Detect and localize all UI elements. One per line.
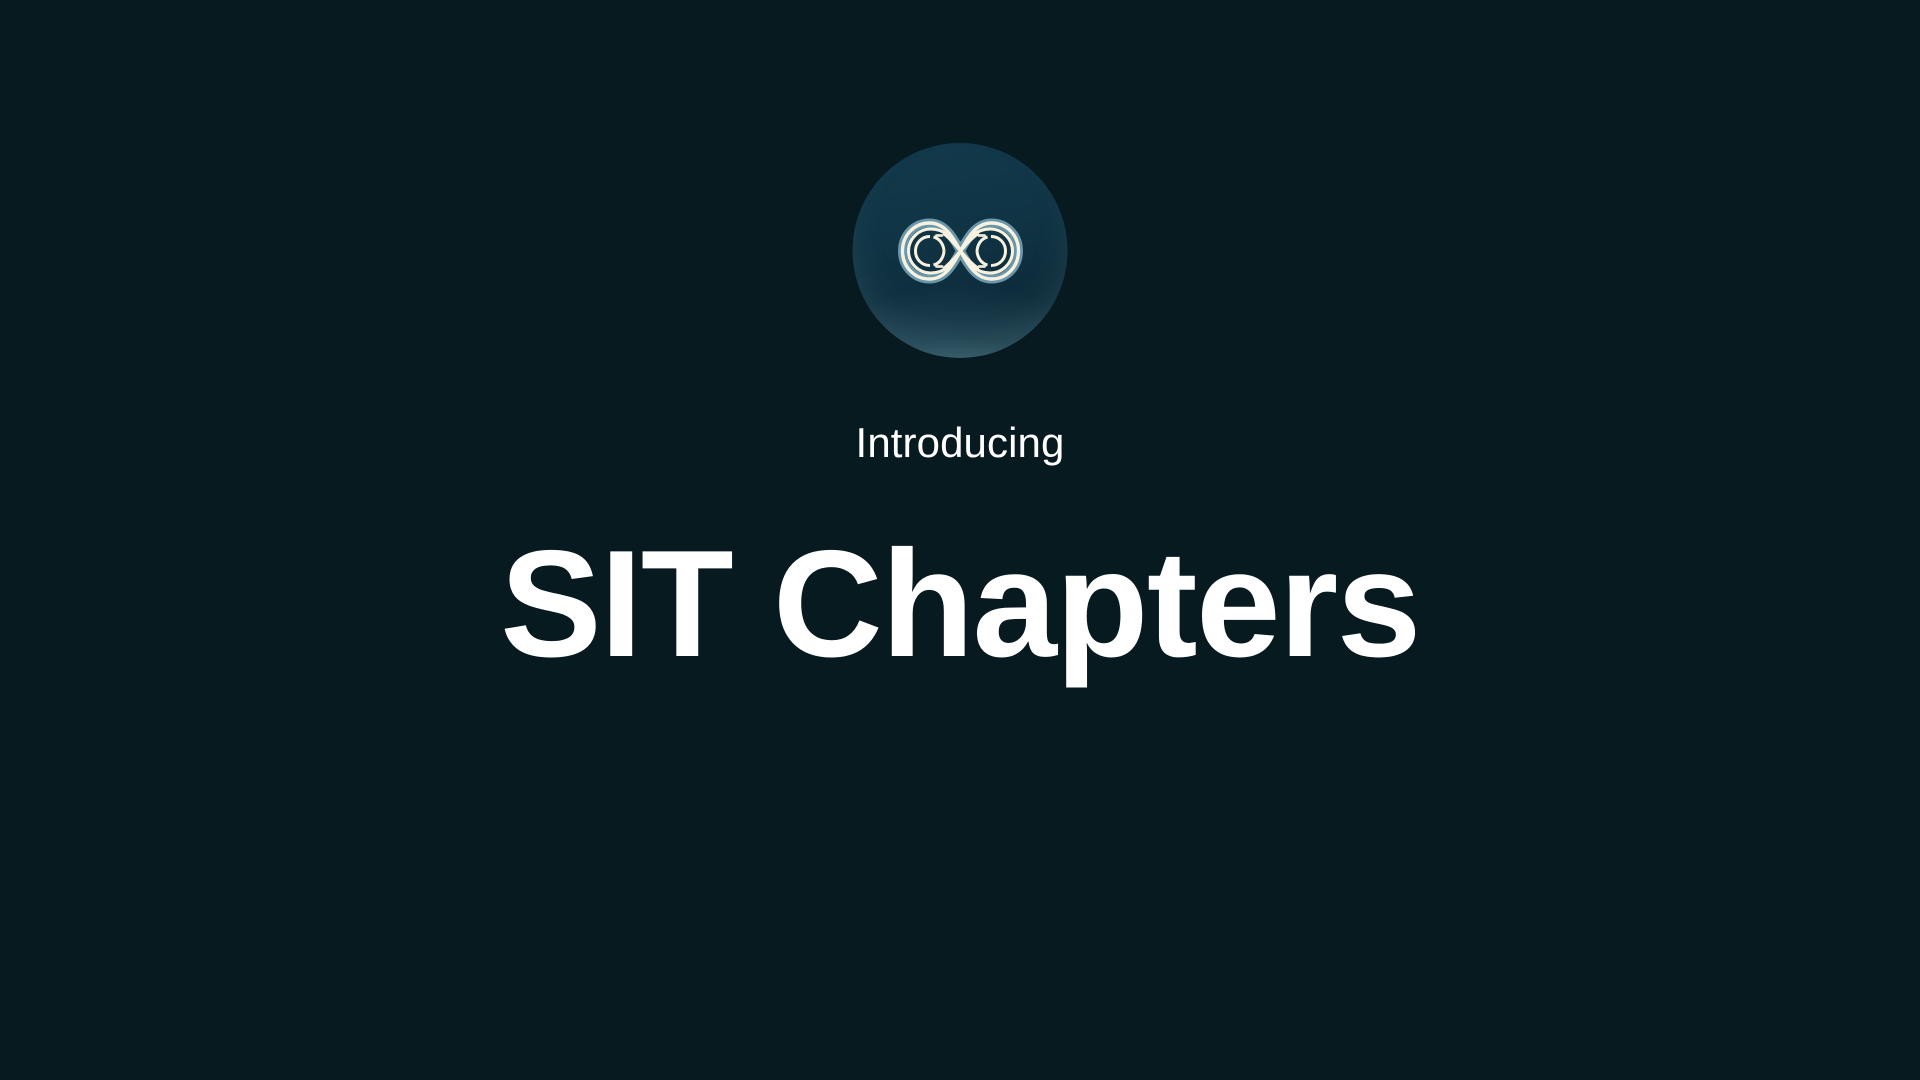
page-title: SIT Chapters	[0, 524, 1920, 685]
title-text-block: Introducing SIT Chapters	[0, 420, 1920, 685]
eyebrow-label: Introducing	[0, 420, 1920, 466]
title-slide: Introducing SIT Chapters	[0, 0, 1920, 1080]
logo-badge	[853, 143, 1068, 358]
infinity-icon	[892, 214, 1028, 288]
